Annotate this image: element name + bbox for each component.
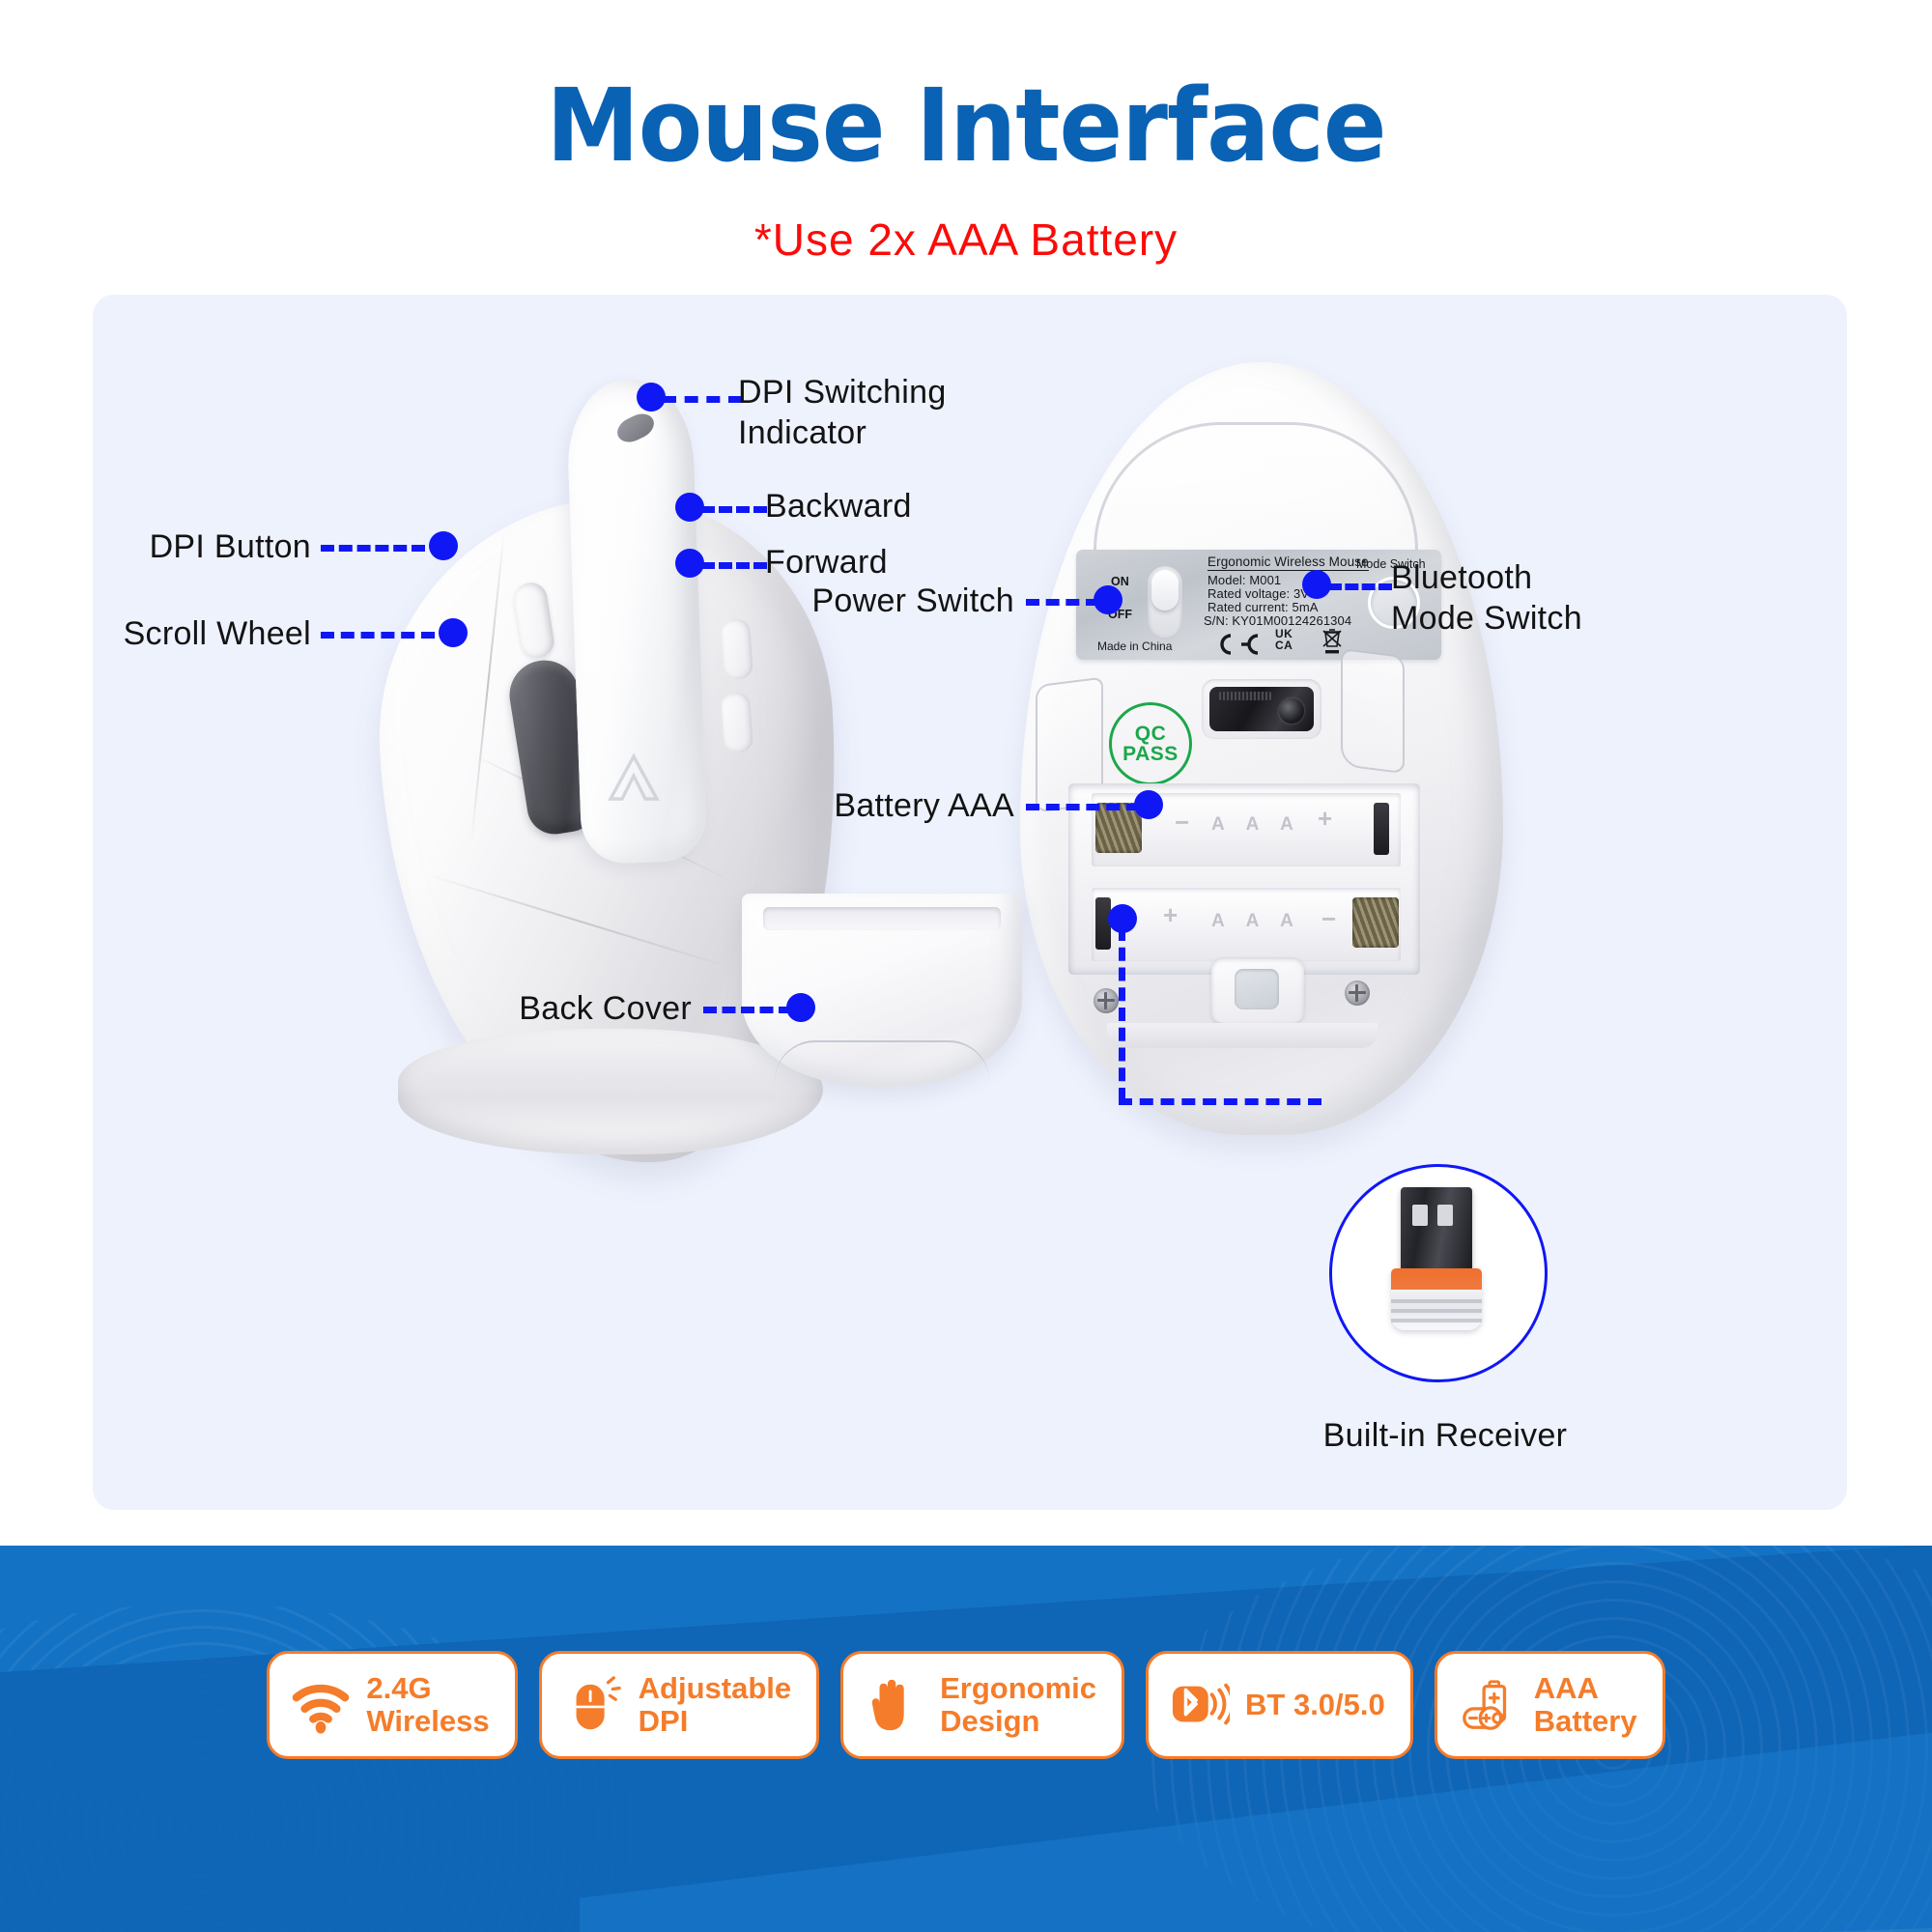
callout-label-built-in-receiver: Built-in Receiver [1242, 1415, 1648, 1456]
callout-line-receiver-horizontal [1119, 1098, 1321, 1105]
qc-line-1: QC [1135, 724, 1167, 744]
ukca-line-2: CA [1275, 639, 1293, 652]
back-cover-arc [775, 1040, 989, 1081]
battery-polarity-minus-bottom: − [1321, 907, 1336, 930]
badge-label: 2.4G Wireless [366, 1672, 489, 1738]
callout-dot-power-switch [1094, 585, 1122, 614]
callout-line-forward [701, 562, 767, 569]
label-rated-current: Rated current: 5mA [1207, 600, 1319, 614]
badge-ergonomic-design[interactable]: Ergonomic Design [840, 1651, 1124, 1759]
power-switch-knob[interactable] [1151, 570, 1179, 611]
callout-label-bluetooth-mode-switch: Bluetooth Mode Switch [1391, 557, 1681, 639]
callout-label-scroll-wheel: Scroll Wheel [85, 613, 311, 654]
page-title: Mouse Interface [68, 75, 1864, 176]
callout-line-bluetooth-mode-switch [1328, 583, 1392, 590]
badge-24g-wireless[interactable]: 2.4G Wireless [267, 1651, 517, 1759]
usb-pin [1412, 1205, 1428, 1226]
qc-pass-stamp: QC PASS [1109, 702, 1192, 785]
callout-line-dpi-button [321, 545, 425, 552]
feature-badge-row: 2.4G Wireless Adjustable DPI Ergonomic D… [0, 1633, 1932, 1777]
callout-dot-dpi-indicator [637, 383, 666, 412]
battery-icon [1459, 1675, 1519, 1735]
battery-spring-bottom [1352, 897, 1399, 948]
usb-grip-rib [1391, 1319, 1482, 1322]
callout-label-power-switch: Power Switch [773, 581, 1014, 621]
badge-aaa-battery[interactable]: AAA Battery [1435, 1651, 1665, 1759]
brand-logo-icon [603, 751, 665, 807]
made-in-label: Made in China [1097, 639, 1172, 653]
badge-bluetooth[interactable]: BT 3.0/5.0 [1146, 1651, 1413, 1759]
ce-mark-icon [1209, 633, 1265, 656]
callout-line-receiver-vertical [1119, 927, 1125, 1101]
backward-button[interactable] [721, 618, 753, 680]
label-product-name: Ergonomic Wireless Mouse [1207, 554, 1369, 571]
forward-button[interactable] [721, 692, 753, 753]
callout-line-scroll-wheel [321, 632, 435, 639]
case-screw-right [1345, 980, 1370, 1006]
callout-dot-dpi-button [429, 531, 458, 560]
battery-polarity-minus-top: − [1175, 810, 1189, 834]
callout-line-dpi-indicator [663, 396, 742, 403]
receiver-storage-slot [1235, 969, 1279, 1009]
usb-connector-metal [1401, 1187, 1472, 1272]
callout-line-backward [701, 506, 767, 513]
callout-label-back-cover: Back Cover [460, 988, 692, 1029]
usb-grip-rib [1391, 1299, 1482, 1303]
optical-sensor-strip [1219, 692, 1271, 700]
callout-line-battery-aaa [1026, 804, 1140, 810]
callout-dot-battery-aaa [1134, 790, 1163, 819]
battery-polarity-plus-top: + [1318, 807, 1332, 830]
mouse-bottom-cover-strip [1107, 1023, 1378, 1048]
diagram-panel: DPI Switching Indicator Backward Forward… [93, 295, 1847, 1510]
battery-polarity-plus-bottom: + [1163, 903, 1178, 926]
callout-dot-bluetooth-mode-switch [1302, 570, 1331, 599]
label-rated-voltage: Rated voltage: 3V [1207, 586, 1309, 601]
case-screw-left [1094, 988, 1119, 1013]
mouse-bottom-view: ON OFF Made in China Ergonomic Wireless … [1001, 362, 1542, 1212]
label-serial-number: S/N: KY01M00124261304 [1204, 613, 1351, 628]
bluetooth-icon [1170, 1675, 1230, 1735]
callout-line-power-switch [1026, 599, 1099, 606]
product-spec-label: ON OFF Made in China Ergonomic Wireless … [1076, 550, 1441, 660]
usb-pin [1437, 1205, 1453, 1226]
weee-bin-icon [1320, 627, 1345, 656]
badge-label: BT 3.0/5.0 [1245, 1689, 1385, 1721]
callout-label-backward: Backward [765, 486, 1036, 526]
badge-label: Ergonomic Design [940, 1672, 1096, 1738]
page-header: Mouse Interface *Use 2x AAA Battery [0, 0, 1932, 290]
callout-label-battery-aaa: Battery AAA [740, 785, 1014, 826]
callout-dot-backward [675, 493, 704, 522]
usb-grip-rib [1391, 1309, 1482, 1313]
optical-sensor-lens [1279, 698, 1304, 724]
mouse-dpi-icon [563, 1675, 623, 1735]
wifi-icon [291, 1675, 351, 1735]
back-cover-notch [763, 907, 1001, 930]
label-model: Model: M001 [1207, 573, 1281, 587]
badge-label: Adjustable DPI [639, 1672, 791, 1738]
battery-size-marking-top: A A A [1211, 814, 1302, 836]
badge-adjustable-dpi[interactable]: Adjustable DPI [539, 1651, 819, 1759]
badge-label: AAA Battery [1534, 1672, 1637, 1738]
callout-dot-forward [675, 549, 704, 578]
battery-contact-top [1374, 803, 1389, 855]
ukca-mark-icon: UK CA [1275, 629, 1293, 651]
callout-dot-back-cover [786, 993, 815, 1022]
page-subtitle: *Use 2x AAA Battery [0, 217, 1932, 262]
mouse-foot-right [1341, 648, 1405, 774]
callout-dot-scroll-wheel [439, 618, 468, 647]
qc-line-2: PASS [1122, 744, 1179, 764]
callout-label-forward: Forward [765, 542, 1036, 582]
usb-receiver [1329, 1164, 1571, 1406]
callout-line-back-cover [703, 1007, 792, 1013]
battery-size-marking-bottom: A A A [1211, 911, 1302, 932]
callout-label-dpi-button: DPI Button [100, 526, 311, 567]
hand-icon [865, 1675, 924, 1735]
